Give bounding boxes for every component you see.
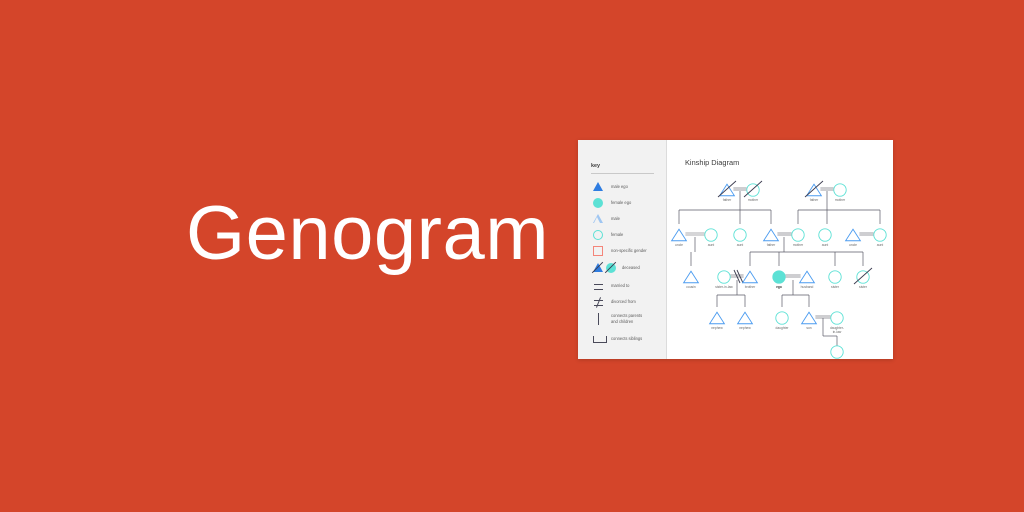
legend-item-label: married to — [611, 283, 629, 289]
node-label: uncle — [675, 243, 683, 247]
triangle-outline-icon — [591, 212, 611, 226]
genogram-card: key male ego female ego male female — [578, 140, 893, 359]
legend-title: key — [591, 163, 600, 169]
legend-item-male: male — [591, 212, 620, 226]
node-sister-in-law — [718, 271, 730, 283]
circle-filled-icon — [591, 196, 611, 210]
legend-panel: key male ego female ego male female — [578, 140, 667, 359]
node-cousin — [684, 271, 699, 283]
node-label: son — [806, 326, 811, 330]
node-label: daughter-in-law — [830, 326, 844, 334]
legend-item-non-specific-gender: non-specific gender — [591, 244, 647, 258]
legend-item-label: connects parents and children — [611, 313, 642, 324]
legend-item-connects-parents-children: connects parents and children — [591, 312, 642, 326]
node-granddaughter — [831, 346, 843, 358]
legend-item-divorced-from: divorced from — [591, 295, 636, 309]
node-label: cousin — [686, 285, 696, 289]
node-aunt — [874, 229, 886, 241]
legend-item-deceased: deceased — [591, 261, 640, 275]
node-aunt — [819, 229, 831, 241]
diagram-nodes: fathermotherfathermotheruncleauntauntfat… — [672, 181, 887, 359]
legend-item-label: male ego — [611, 184, 628, 190]
legend-item-label: divorced from — [611, 299, 636, 305]
node-label: aunt — [708, 243, 715, 247]
legend-item-male-ego: male ego — [591, 180, 628, 194]
node-label: father — [723, 198, 732, 202]
deceased-icon — [591, 261, 622, 275]
node-mother — [834, 184, 846, 196]
node-mother — [792, 229, 804, 241]
node-son — [802, 312, 817, 324]
not-equals-icon — [591, 295, 611, 309]
node-label: aunt — [877, 243, 884, 247]
node-label: mother — [793, 243, 804, 247]
node-brother — [743, 271, 758, 283]
node-label: aunt — [822, 243, 829, 247]
node-label: nephew — [739, 326, 751, 330]
legend-item-label: female — [611, 232, 623, 238]
node-label: ego — [776, 285, 782, 289]
node-husband — [800, 271, 815, 283]
node-uncle — [672, 229, 687, 241]
node-label: brother — [745, 285, 756, 289]
sibling-bracket-icon — [591, 332, 611, 346]
legend-item-female: female — [591, 228, 623, 242]
node-label: sister — [859, 285, 868, 289]
legend-item-label: male — [611, 216, 620, 222]
legend-item-married-to: married to — [591, 279, 629, 293]
node-daughter — [776, 312, 788, 324]
node-label: mother — [835, 198, 846, 202]
node-label: uncle — [849, 243, 857, 247]
node-label: daughter — [775, 326, 789, 330]
kinship-diagram-panel: Kinship Diagram fathermotherfathermother… — [667, 140, 893, 359]
node-aunt — [705, 229, 717, 241]
node-aunt — [734, 229, 746, 241]
triangle-filled-icon — [591, 180, 611, 194]
node-ego — [773, 271, 785, 283]
node-label: aunt — [737, 243, 744, 247]
node-label: father — [767, 243, 776, 247]
legend-item-connects-siblings: connects siblings — [591, 332, 642, 346]
vertical-line-icon — [591, 312, 611, 326]
legend-divider — [591, 173, 654, 174]
node-sister — [829, 271, 841, 283]
node-label: husband — [801, 285, 814, 289]
node-label: sister — [831, 285, 840, 289]
node-label: father — [810, 198, 819, 202]
node-father — [764, 229, 779, 241]
square-outline-icon — [591, 244, 611, 258]
node-label: sister-in-law — [715, 285, 733, 289]
legend-item-label: non-specific gender — [611, 248, 647, 254]
legend-item-label: female ego — [611, 200, 631, 206]
circle-outline-icon — [591, 228, 611, 242]
kinship-diagram-svg: fathermotherfathermotheruncleauntauntfat… — [667, 140, 893, 359]
node-label: nephew — [711, 326, 723, 330]
node-uncle — [846, 229, 861, 241]
legend-item-label: deceased — [622, 265, 640, 271]
legend-item-label: connects siblings — [611, 336, 642, 342]
page-title: Genogram — [186, 196, 549, 272]
legend-item-female-ego: female ego — [591, 196, 631, 210]
node-nephew — [710, 312, 725, 324]
equals-icon — [591, 279, 611, 293]
node-daughter--in-law — [831, 312, 843, 324]
node-label: mother — [748, 198, 759, 202]
node-nephew — [738, 312, 753, 324]
diagram-links — [679, 188, 880, 346]
